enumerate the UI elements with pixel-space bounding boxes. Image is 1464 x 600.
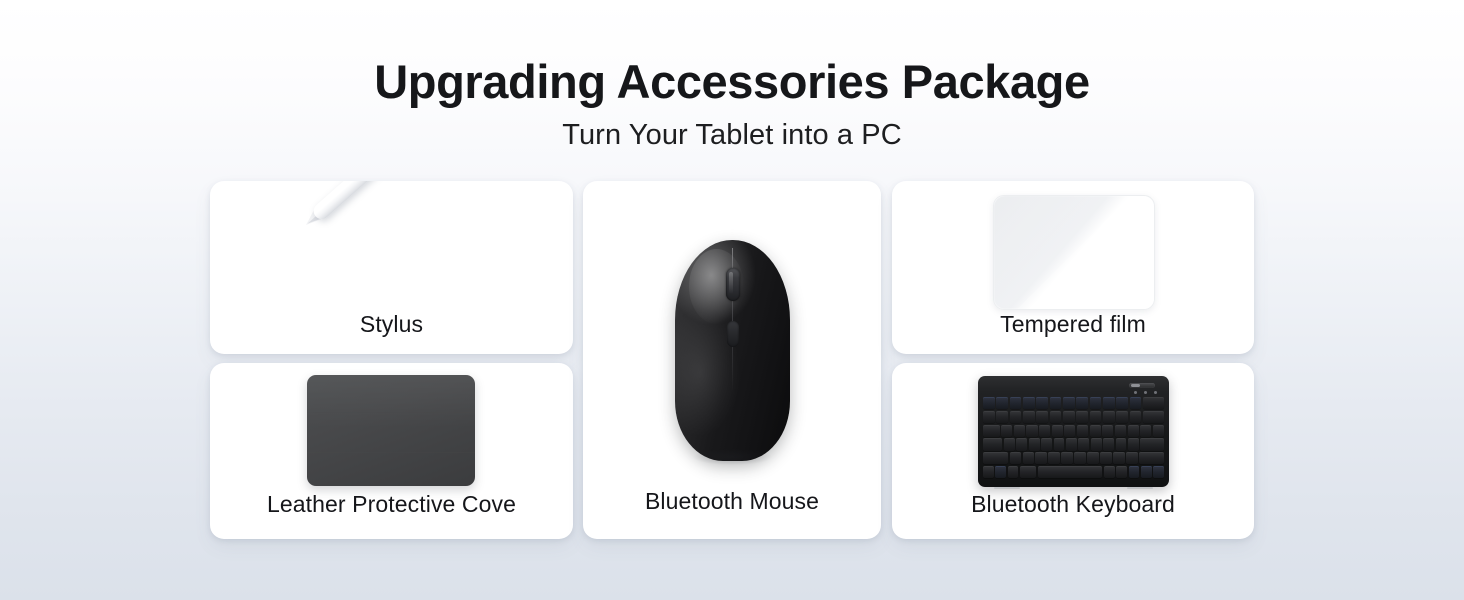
keyboard-indicator-leds (1134, 391, 1157, 394)
accessory-label-mouse: Bluetooth Mouse (583, 488, 881, 515)
keyboard-figure (892, 363, 1254, 493)
keyboard-led (1134, 391, 1137, 394)
tablet-folio-cover-icon (307, 375, 475, 486)
accessory-card-mouse[interactable]: Bluetooth Mouse (583, 181, 881, 539)
keyboard-row-shift (983, 452, 1164, 464)
cover-sheen (307, 375, 475, 428)
keyboard-row-space (983, 466, 1164, 478)
accessory-card-stylus[interactable]: Stylus (210, 181, 573, 354)
film-figure (892, 181, 1254, 311)
stylus-body (310, 181, 428, 222)
mouse-scroll-wheel (726, 268, 740, 301)
accessory-label-film: Tempered film (892, 311, 1254, 338)
accessory-card-film[interactable]: Tempered film (892, 181, 1254, 354)
stylus-gloss (327, 181, 416, 202)
keyboard-row-function (983, 397, 1164, 409)
keyboard-power-switch (1129, 383, 1155, 388)
keyboard-keys (983, 397, 1164, 478)
cover-fold-line (307, 452, 475, 453)
wireless-mouse-icon (675, 240, 790, 461)
stylus-figure (210, 181, 573, 321)
keyboard-row-number (983, 411, 1164, 423)
cover-figure (210, 363, 573, 491)
film-glare (994, 196, 1154, 309)
keyboard-switch-knob (1131, 384, 1140, 387)
mouse-figure (583, 181, 881, 481)
tempered-glass-film-icon (993, 195, 1155, 310)
accessory-label-cover: Leather Protective Cove (210, 491, 573, 518)
accessories-grid: Stylus Leather Protective Cove (210, 181, 1254, 539)
accessory-label-keyboard: Bluetooth Keyboard (892, 491, 1254, 518)
cover-fold-line (307, 412, 475, 413)
accessory-card-keyboard[interactable]: Bluetooth Keyboard (892, 363, 1254, 539)
keyboard-led (1154, 391, 1157, 394)
keyboard-led (1144, 391, 1147, 394)
mouse-wheel-highlight (729, 272, 733, 294)
keyboard-foot (994, 487, 1020, 489)
accessory-card-cover[interactable]: Leather Protective Cove (210, 363, 573, 539)
keyboard-row-qwerty (983, 425, 1164, 437)
keyboard-bezel (983, 380, 1164, 397)
stylus-pen-icon (301, 181, 428, 231)
banner-header: Upgrading Accessories Package Turn Your … (0, 0, 1464, 152)
mouse-dpi-button (727, 321, 739, 347)
page-subtitle: Turn Your Tablet into a PC (0, 119, 1464, 152)
bluetooth-keyboard-icon (978, 376, 1169, 487)
keyboard-foot (1127, 487, 1153, 489)
keyboard-row-home (983, 438, 1164, 450)
mouse-shadow (693, 449, 771, 465)
page-title: Upgrading Accessories Package (0, 57, 1464, 108)
accessories-package-banner: Upgrading Accessories Package Turn Your … (0, 0, 1464, 600)
accessory-label-stylus: Stylus (210, 311, 573, 338)
